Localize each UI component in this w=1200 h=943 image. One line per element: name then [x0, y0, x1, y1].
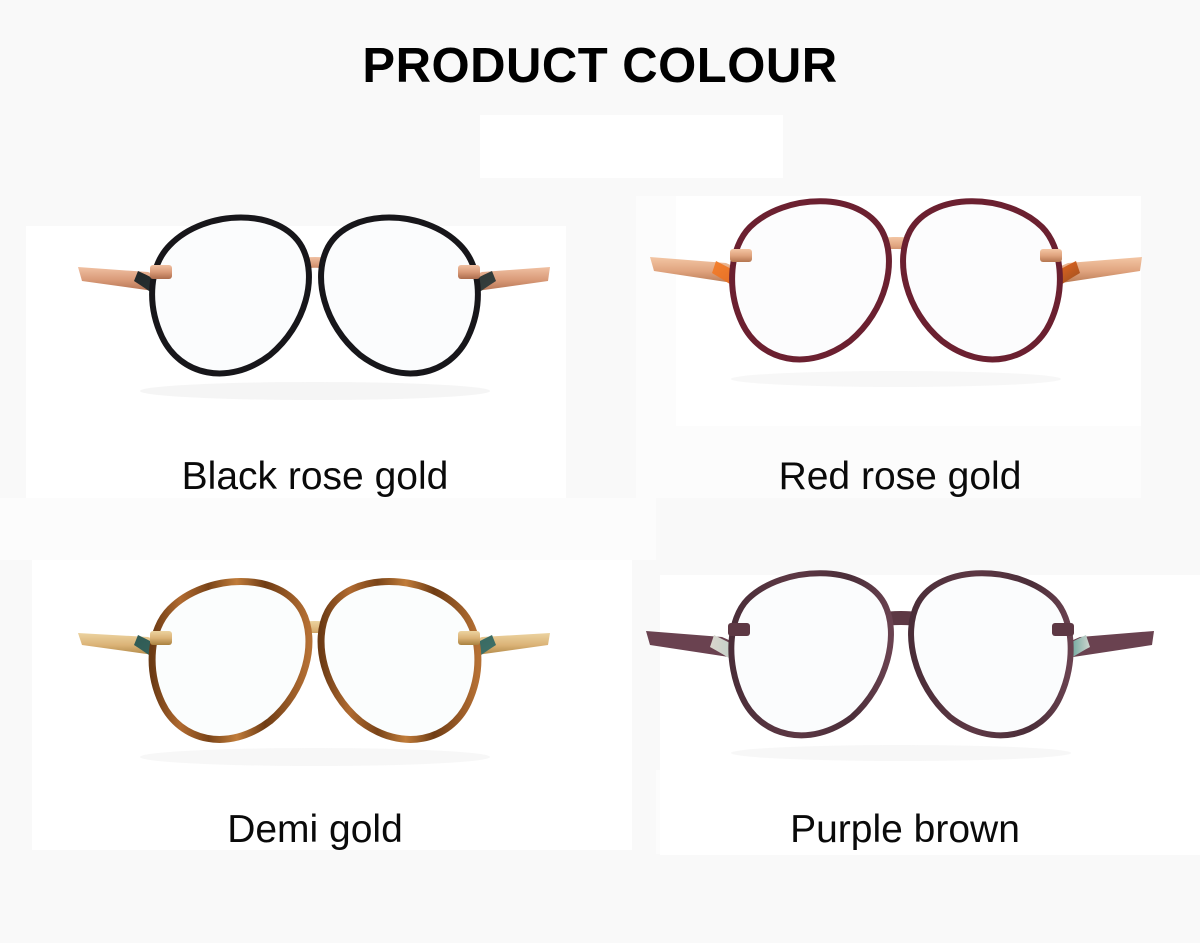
swatch-demi-gold[interactable]: Demi gold [30, 545, 600, 780]
glasses-photo-purple-brown [630, 555, 1180, 780]
glasses-photo-demi-gold [30, 545, 600, 780]
swatch-red-rose-gold[interactable]: Red rose gold [630, 185, 1170, 415]
swatch-label-purple-brown: Purple brown [630, 808, 1180, 852]
swatch-black-rose-gold[interactable]: Black rose gold [30, 185, 600, 415]
swatch-label-black-rose-gold: Black rose gold [30, 455, 600, 499]
page-title: PRODUCT COLOUR [0, 38, 1200, 94]
panel-top-center [480, 115, 783, 178]
glasses-photo-red-rose-gold [630, 185, 1170, 415]
glasses-photo-black-rose-gold [30, 185, 600, 415]
product-colour-page: PRODUCT COLOUR [0, 0, 1200, 943]
swatch-label-red-rose-gold: Red rose gold [630, 455, 1170, 499]
swatch-label-demi-gold: Demi gold [30, 808, 600, 852]
swatch-purple-brown[interactable]: Purple brown [630, 555, 1180, 780]
